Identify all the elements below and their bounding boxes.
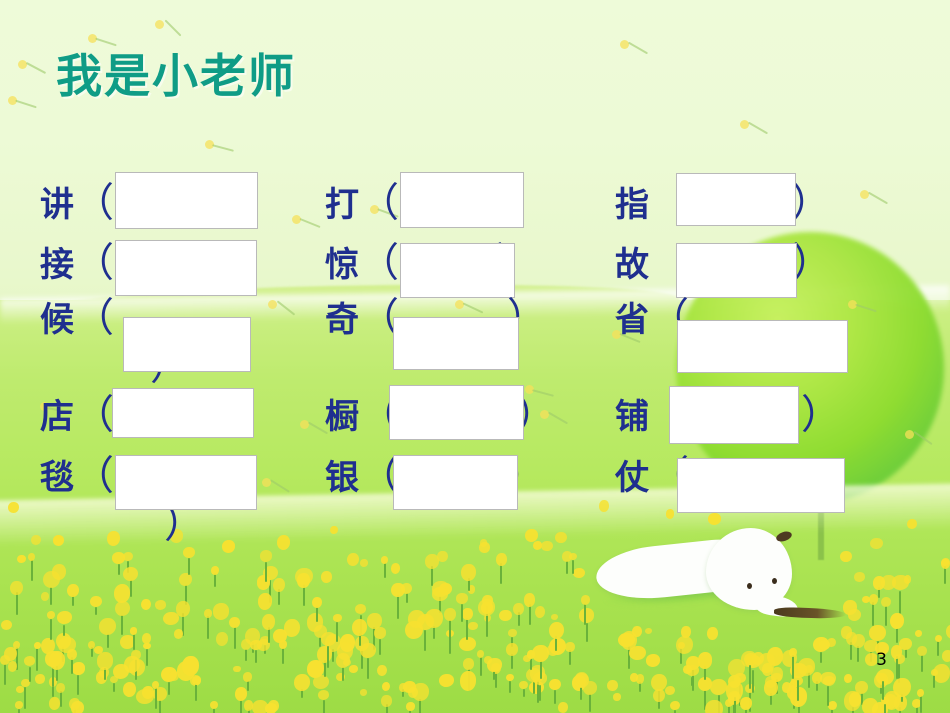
answer-blank-box[interactable]	[123, 317, 251, 372]
answer-blank-box[interactable]	[677, 458, 845, 513]
exercise-character: 讲	[40, 185, 74, 225]
exercise-character: 省	[615, 300, 649, 340]
exercise-character: 仗	[615, 458, 649, 498]
answer-blank-box[interactable]	[115, 240, 257, 296]
close-paren: ）	[791, 180, 831, 226]
open-paren: （	[74, 240, 114, 286]
answer-blank-box[interactable]	[393, 455, 518, 510]
answer-blank-box[interactable]	[676, 173, 796, 226]
answer-blank-box[interactable]	[669, 386, 799, 444]
exercise-character: 候	[40, 300, 74, 340]
slide-canvas: 我是小老师 讲（）打（）指（）接（）惊（）故（）候（）奇（）省（店（）橱（）铺（…	[0, 0, 950, 713]
open-paren: （	[74, 295, 114, 341]
open-paren: （	[74, 392, 114, 438]
exercise-character: 店	[40, 397, 74, 437]
exercise-character: 打	[325, 185, 359, 225]
open-paren: （	[359, 240, 399, 286]
answer-blank-box[interactable]	[112, 388, 254, 438]
page-title: 我是小老师	[56, 40, 296, 106]
close-paren: ）	[801, 392, 841, 438]
exercise-character: 橱	[325, 397, 359, 437]
slide-content: 我是小老师 讲（）打（）指（）接（）惊（）故（）候（）奇（）省（店（）橱（）铺（…	[0, 0, 950, 713]
exercise-character: 接	[40, 245, 74, 285]
open-paren: （	[359, 180, 399, 226]
exercise-character: 毯	[40, 458, 74, 498]
answer-blank-box[interactable]	[676, 243, 797, 298]
exercise-character: 铺	[615, 397, 649, 437]
open-paren: （	[74, 180, 114, 226]
answer-blank-box[interactable]	[400, 172, 524, 228]
exercise-character: 故	[615, 245, 649, 285]
answer-blank-box[interactable]	[389, 385, 524, 440]
answer-blank-box[interactable]	[400, 243, 515, 298]
exercise-character: 银	[325, 458, 359, 498]
exercise-character: 指	[615, 185, 649, 225]
answer-blank-box[interactable]	[677, 320, 848, 373]
exercise-character: 惊	[325, 245, 359, 285]
answer-blank-box[interactable]	[393, 317, 519, 370]
close-paren: ）	[792, 240, 832, 286]
answer-blank-box[interactable]	[115, 172, 258, 229]
answer-blank-box[interactable]	[115, 455, 257, 510]
exercise-character: 奇	[325, 300, 359, 340]
open-paren: （	[74, 453, 114, 499]
page-number: 3	[876, 650, 887, 670]
